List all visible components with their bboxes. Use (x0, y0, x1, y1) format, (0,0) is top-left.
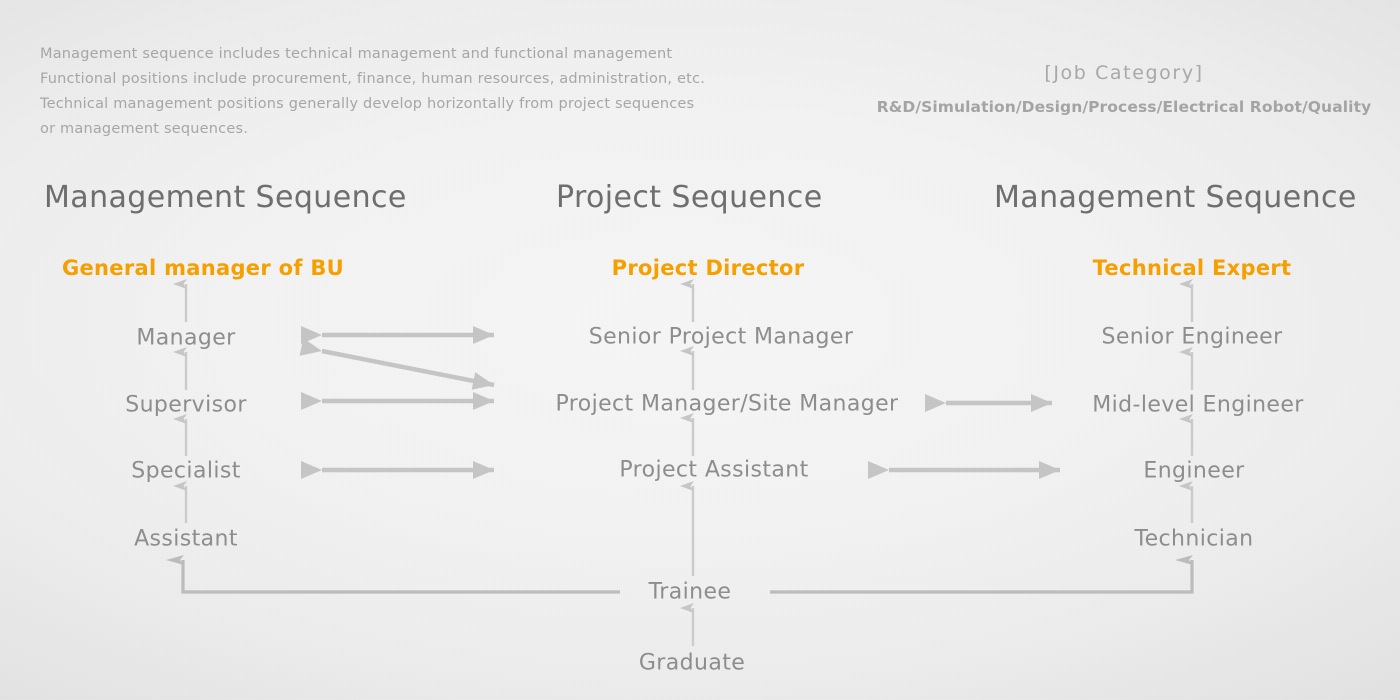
node-technical-expert[interactable]: Technical Expert (1093, 256, 1292, 280)
node-engineer[interactable]: Engineer (1143, 459, 1244, 484)
node-trainee[interactable]: Trainee (649, 580, 732, 605)
node-senior-engineer[interactable]: Senior Engineer (1101, 325, 1282, 350)
job-category-list: R&D/Simulation/Design/Process/Electrical… (864, 98, 1384, 116)
note-line-4: or management sequences. (40, 117, 705, 142)
column-header-project: Project Sequence (556, 180, 823, 215)
trainee-to-technician-connector (770, 560, 1192, 592)
node-manager[interactable]: Manager (136, 326, 235, 351)
node-assistant[interactable]: Assistant (134, 527, 238, 552)
explanatory-note: Management sequence includes technical m… (40, 42, 705, 142)
note-line-2: Functional positions include procurement… (40, 67, 705, 92)
node-specialist[interactable]: Specialist (131, 459, 240, 484)
column-header-management-left: Management Sequence (44, 180, 407, 215)
transfer-manager-project-manager (322, 351, 494, 385)
column-header-management-right: Management Sequence (994, 180, 1357, 215)
node-technician[interactable]: Technician (1135, 527, 1254, 552)
node-mid-level-engineer[interactable]: Mid-level Engineer (1092, 393, 1303, 418)
note-line-3: Technical management positions generally… (40, 92, 705, 117)
node-supervisor[interactable]: Supervisor (125, 393, 247, 418)
node-senior-project-manager[interactable]: Senior Project Manager (589, 325, 854, 350)
middle-right-transfer-arrows (889, 403, 1060, 470)
node-project-assistant[interactable]: Project Assistant (619, 458, 808, 483)
node-project-director[interactable]: Project Director (612, 256, 805, 280)
node-project-manager-site-manager[interactable]: Project Manager/Site Manager (556, 392, 899, 417)
node-general-manager-of-bu[interactable]: General manager of BU (62, 256, 344, 280)
trainee-to-assistant-connector (183, 560, 620, 592)
node-graduate[interactable]: Graduate (639, 651, 745, 676)
job-category-title: [Job Category] (864, 62, 1384, 84)
left-middle-transfer-arrows (322, 335, 494, 470)
note-line-1: Management sequence includes technical m… (40, 42, 705, 67)
diagram-canvas: Management sequence includes technical m… (0, 0, 1400, 700)
